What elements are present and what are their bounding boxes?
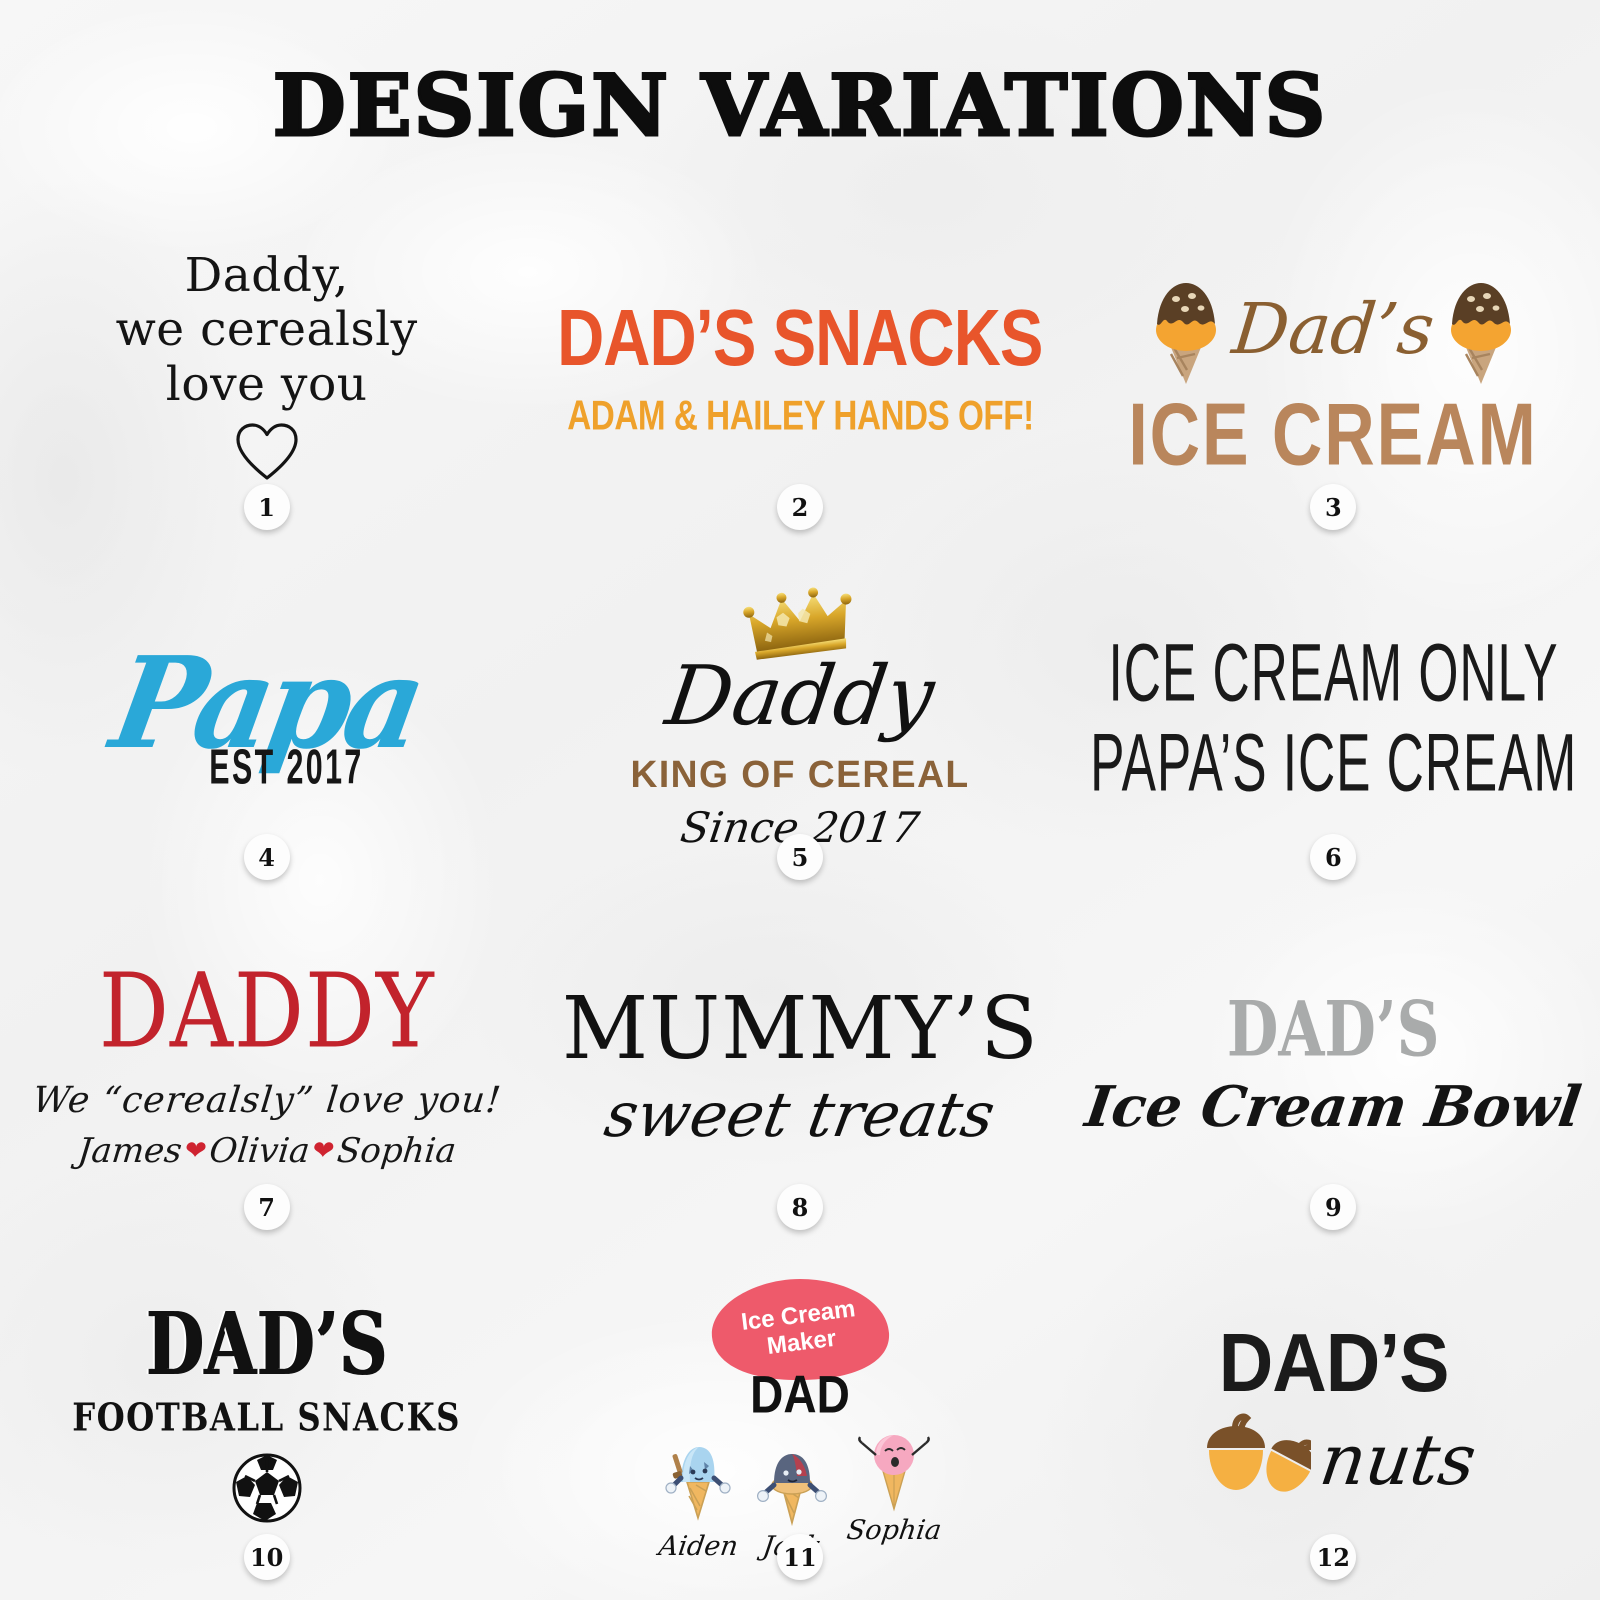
design-7-headline: DADDY <box>99 960 435 1063</box>
design-number-badge: 8 <box>777 1184 823 1230</box>
design-11-character-name-1: Aiden <box>656 1531 739 1562</box>
design-card-1[interactable]: Daddy, we cerealsly love you 1 <box>0 190 533 540</box>
design-1-line-2: we cerealsly <box>116 303 418 358</box>
design-card-8[interactable]: MUMMY’S sweet treats 8 <box>533 890 1066 1240</box>
design-10-subline: FOOTBALL SNACKS <box>72 1395 461 1440</box>
design-number-badge: 11 <box>777 1534 823 1580</box>
design-4-established: EST 2017 <box>209 740 363 796</box>
design-10-headline: DAD’S <box>146 1300 388 1386</box>
soccer-ball-icon <box>231 1452 303 1529</box>
ice-cream-cone-icon <box>1438 266 1524 393</box>
design-5-title: KING OF CEREAL <box>630 754 969 797</box>
design-9-subline: Ice Cream Bowl <box>1082 1074 1586 1140</box>
heart-icon: ❤ <box>311 1136 336 1166</box>
character-sophia: Sophia <box>847 1427 941 1546</box>
design-card-3[interactable]: Dad’s ICE CREAM <box>1067 190 1600 540</box>
design-number-badge: 1 <box>244 484 290 530</box>
design-card-11[interactable]: Ice Cream Maker DAD <box>533 1240 1066 1590</box>
design-number-badge: 2 <box>777 484 823 530</box>
design-11-character-name-3: Sophia <box>845 1515 944 1546</box>
design-number-badge: 9 <box>1310 1184 1356 1230</box>
design-7-subline: We “cerealsly” love you! <box>30 1080 503 1121</box>
design-7-names: James ❤ Olivia ❤ Sophia <box>76 1131 458 1171</box>
design-number-badge: 5 <box>777 834 823 880</box>
design-card-5[interactable]: Daddy KING OF CEREAL Since 2017 5 <box>533 540 1066 890</box>
page-title: DESIGN VARIATIONS <box>0 56 1600 155</box>
design-6-line-2: PAPA’S ICE CREAM <box>1090 714 1577 813</box>
design-1-line-1: Daddy, <box>185 249 349 304</box>
acorn-icon <box>1191 1410 1311 1511</box>
design-12-script: nuts <box>1315 1419 1481 1501</box>
design-card-10[interactable]: DAD’S FOOTBALL SNACKS 10 <box>0 1240 533 1590</box>
design-2-headline: DAD’S SNACKS <box>557 297 1042 377</box>
character-aiden: Aiden <box>659 1438 738 1562</box>
design-grid: Daddy, we cerealsly love you 1 DAD’S SNA… <box>0 190 1600 1590</box>
design-7-name-2: Olivia <box>207 1131 311 1171</box>
design-7-name-3: Sophia <box>335 1131 458 1171</box>
design-8-subline: sweet treats <box>600 1078 1001 1151</box>
design-card-9[interactable]: DAD’S Ice Cream Bowl 9 <box>1067 890 1600 1240</box>
design-5-script: Daddy <box>661 656 938 738</box>
design-3-script: Dad’s <box>1229 294 1437 364</box>
design-number-badge: 12 <box>1310 1534 1356 1580</box>
ice-cream-cone-icon <box>1143 266 1229 393</box>
design-12-headline: DAD’S <box>1218 1321 1448 1404</box>
heart-outline-icon <box>234 422 300 487</box>
design-number-badge: 6 <box>1310 834 1356 880</box>
design-card-4[interactable]: Papa EST 2017 4 <box>0 540 533 890</box>
design-6-line-1: ICE CREAM ONLY <box>1108 623 1558 722</box>
heart-icon: ❤ <box>183 1136 208 1166</box>
design-3-headline: ICE CREAM <box>1129 391 1538 479</box>
design-card-6[interactable]: ICE CREAM ONLY PAPA’S ICE CREAM 6 <box>1067 540 1600 890</box>
design-number-badge: 7 <box>244 1184 290 1230</box>
design-8-headline: MUMMY’S <box>562 986 1039 1072</box>
design-7-name-1: James <box>76 1131 184 1171</box>
design-variations-sheet: DESIGN VARIATIONS Daddy, we cerealsly lo… <box>0 0 1600 1600</box>
design-1-line-3: love you <box>166 358 368 413</box>
design-11-headline: DAD <box>750 1362 850 1424</box>
ice-cream-character-blue-icon <box>659 1438 737 1529</box>
design-card-2[interactable]: DAD’S SNACKS ADAM & HAILEY HANDS OFF! 2 <box>533 190 1066 540</box>
design-card-12[interactable]: DAD’S n <box>1067 1240 1600 1590</box>
design-card-7[interactable]: DADDY We “cerealsly” love you! James ❤ O… <box>0 890 533 1240</box>
design-number-badge: 3 <box>1310 484 1356 530</box>
design-number-badge: 4 <box>244 834 290 880</box>
design-number-badge: 10 <box>244 1534 290 1580</box>
design-9-headline: DAD’S <box>1227 991 1440 1067</box>
design-2-subline: ADAM & HAILEY HANDS OFF! <box>567 394 1033 436</box>
